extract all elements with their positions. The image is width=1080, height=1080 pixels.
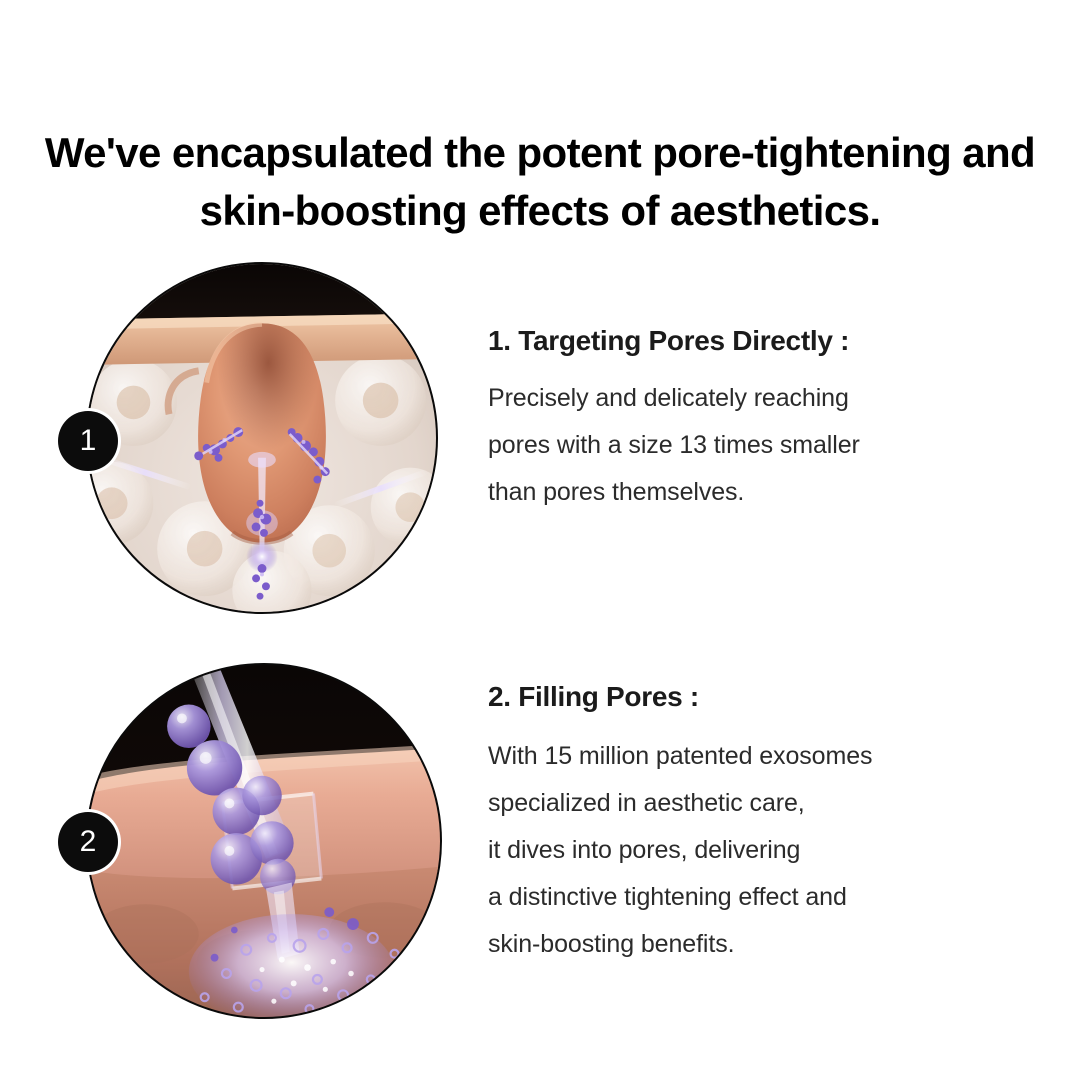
section-2-body-line-2: specialized in aesthetic care, xyxy=(488,780,1028,827)
step-badge-2: 2 xyxy=(58,812,118,872)
section-2-body-line-5: skin-boosting benefits. xyxy=(488,921,1028,968)
step-badge-1: 1 xyxy=(58,411,118,471)
section-1-body-line-3: than pores themselves. xyxy=(488,469,1028,516)
section-2-body-line-3: it dives into pores, delivering xyxy=(488,827,1028,874)
section-1-title: 1. Targeting Pores Directly : xyxy=(488,325,1028,357)
section-2-body: With 15 million patented exosomes specia… xyxy=(488,733,1028,968)
headline-line-2: skin-boosting effects of aesthetics. xyxy=(24,182,1056,240)
infographic-page: We've encapsulated the potent pore-tight… xyxy=(0,0,1080,1080)
pore-illustration-svg xyxy=(88,264,436,612)
page-headline: We've encapsulated the potent pore-tight… xyxy=(0,124,1080,240)
section-targeting-pores: 1 1. Targeting Pores Directly : Precisel… xyxy=(0,262,1080,622)
section-2-title: 2. Filling Pores : xyxy=(488,681,1028,713)
section-1-media: 1 xyxy=(86,262,438,614)
section-2-body-line-4: a distinctive tightening effect and xyxy=(488,874,1028,921)
section-1-body: Precisely and delicately reaching pores … xyxy=(488,375,1028,516)
pore-cross-section-illustration xyxy=(86,262,438,614)
exosome-illustration-svg xyxy=(88,665,440,1017)
section-2-media: 2 xyxy=(86,663,442,1019)
section-2-body-line-1: With 15 million patented exosomes xyxy=(488,733,1028,780)
section-1-body-line-1: Precisely and delicately reaching xyxy=(488,375,1028,422)
section-2-copy: 2. Filling Pores : With 15 million paten… xyxy=(488,681,1028,968)
section-1-copy: 1. Targeting Pores Directly : Precisely … xyxy=(488,325,1028,516)
section-1-body-line-2: pores with a size 13 times smaller xyxy=(488,422,1028,469)
section-filling-pores: 2 2. Filling Pores : With 15 million pat… xyxy=(0,663,1080,1021)
exosome-injection-illustration xyxy=(86,663,442,1019)
headline-line-1: We've encapsulated the potent pore-tight… xyxy=(24,124,1056,182)
